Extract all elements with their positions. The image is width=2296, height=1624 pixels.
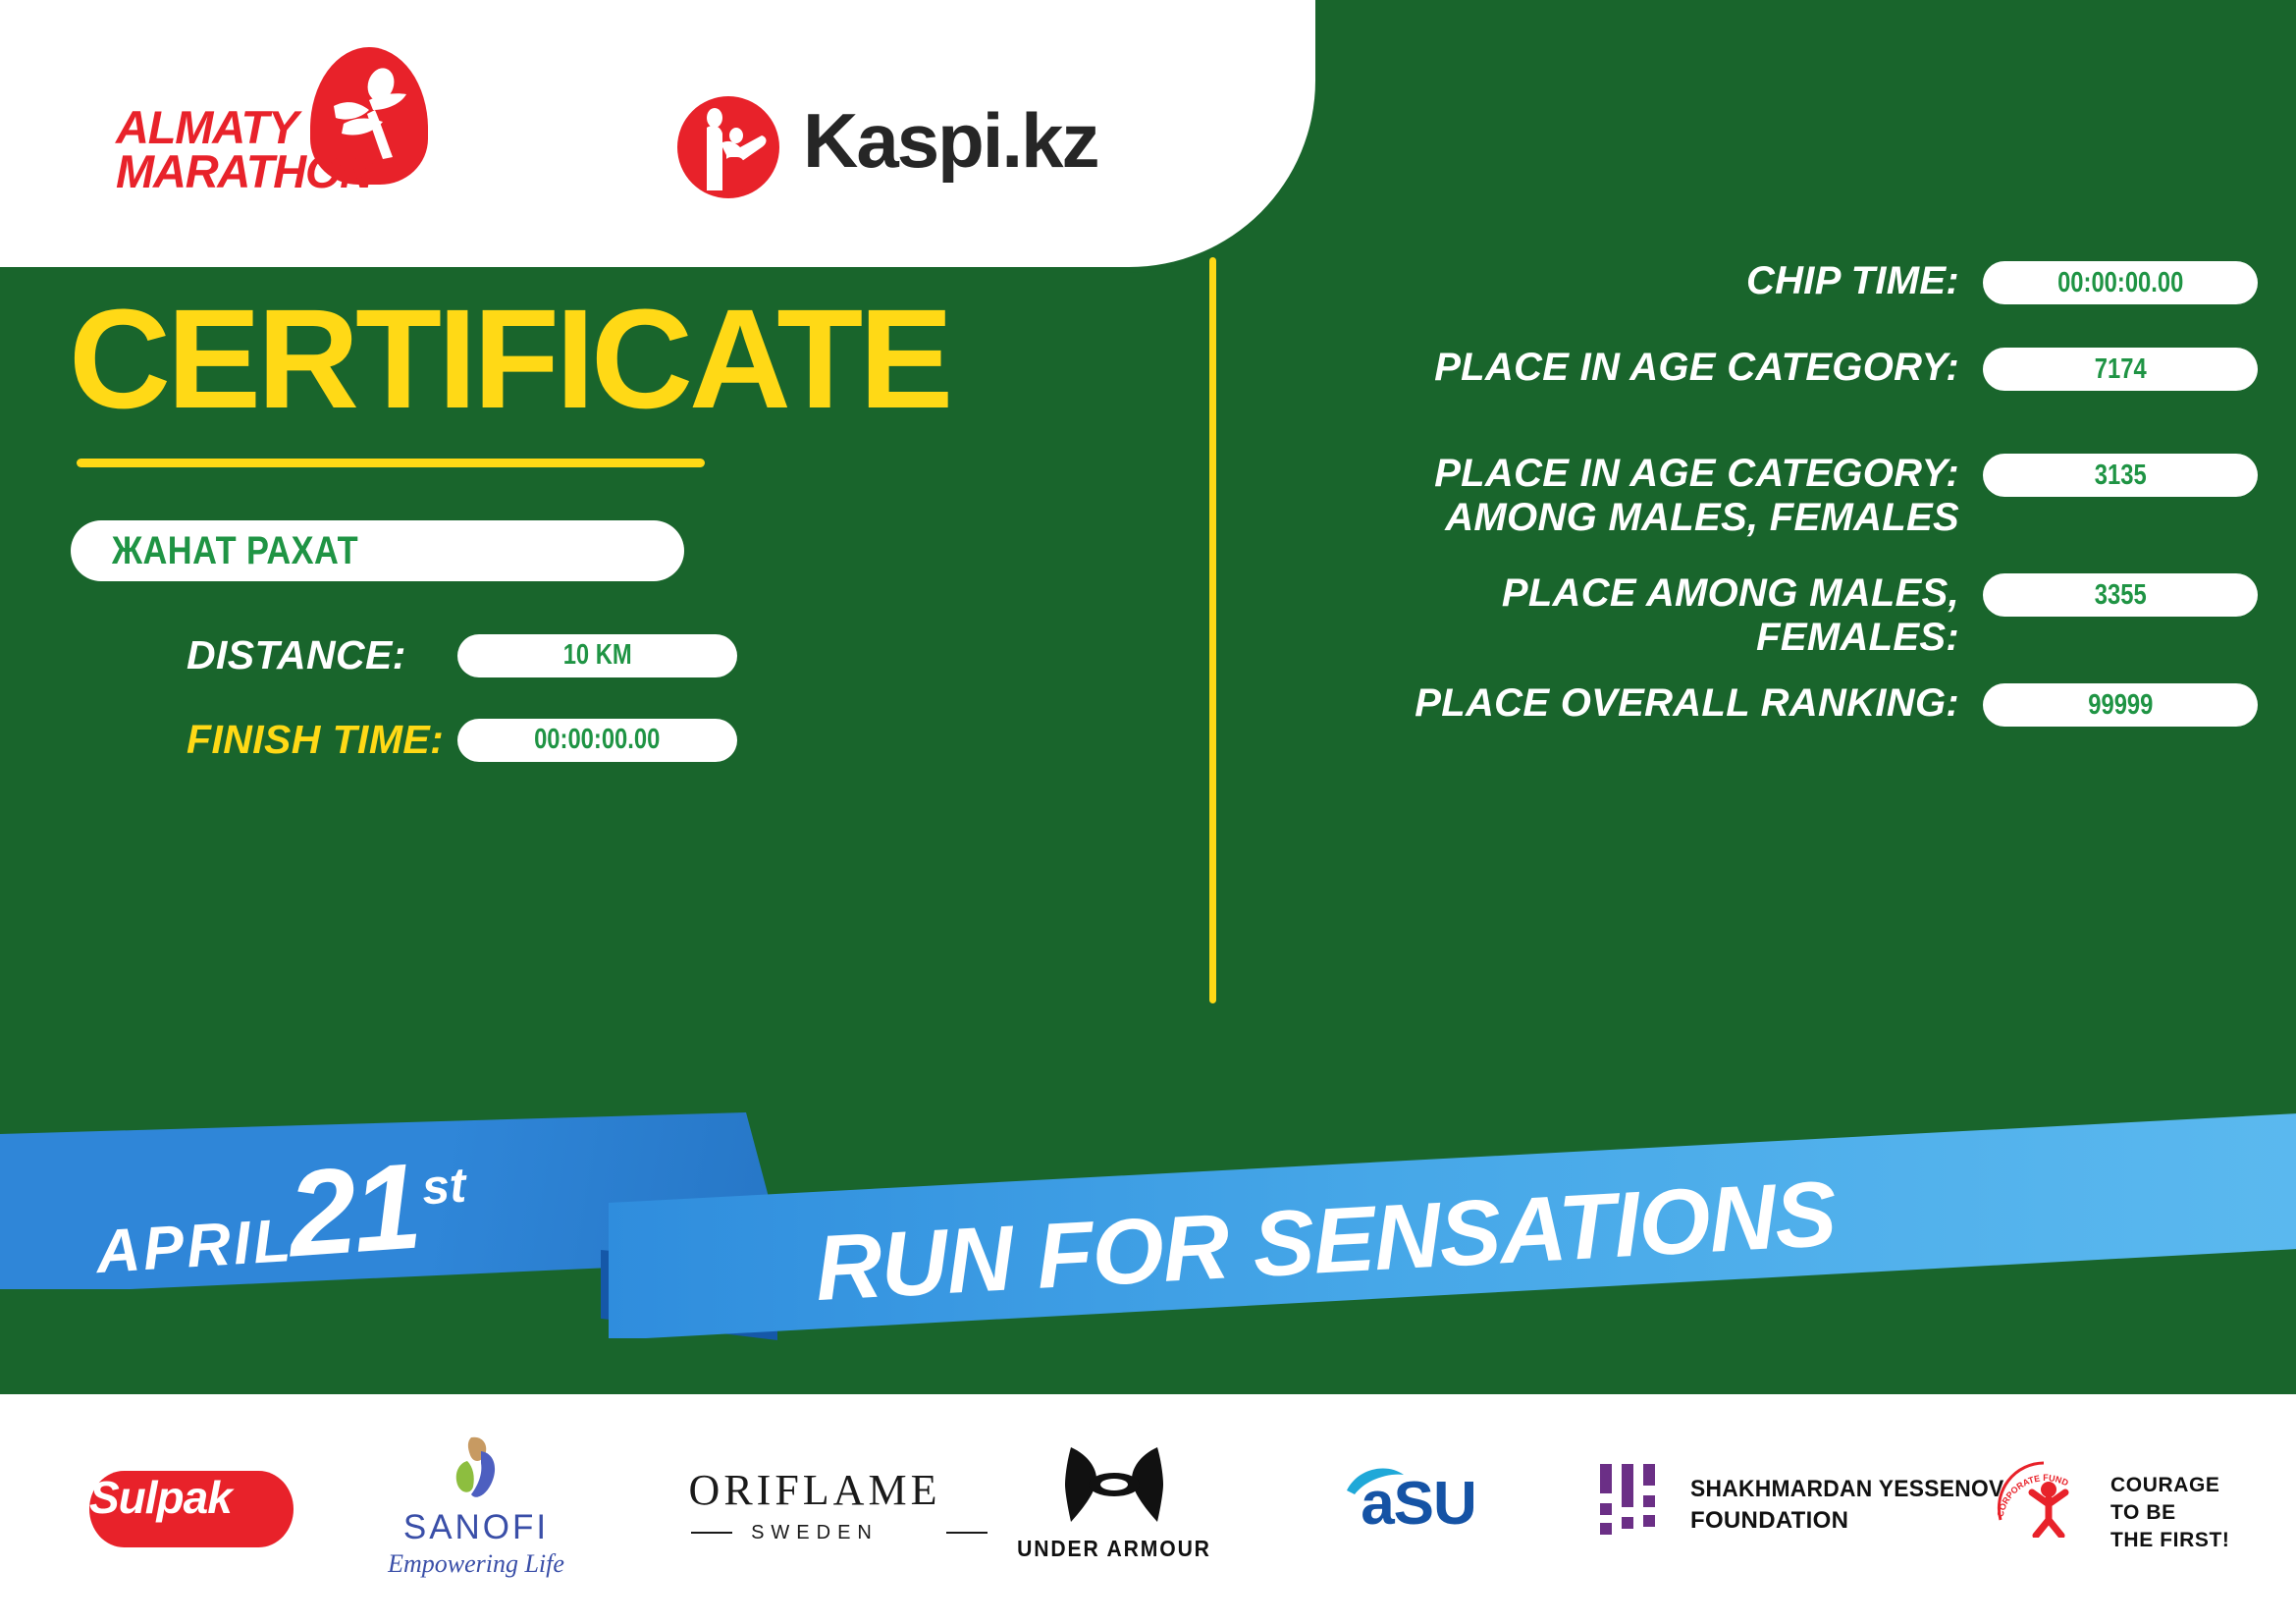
sponsor-asu: aSU	[1315, 1465, 1600, 1553]
under-armour-mark-icon	[1057, 1445, 1171, 1526]
stat-value: 00:00:00.00	[2057, 267, 2183, 299]
stat-row: PLACE OVERALL RANKING:99999	[1266, 681, 2258, 727]
sponsor-courage: CORPORATE FUND COURAGE TO BE THE FIRST!	[1993, 1451, 2287, 1567]
almaty-logo-line2: MARATHON	[116, 148, 372, 194]
stat-label: PLACE IN AGE CATEGORY:	[1266, 346, 1983, 390]
certificate-page: ALMATYMARATHONALMATYMARATHONALMATYMARATH…	[0, 0, 2296, 1624]
sanofi-mark-icon	[438, 1435, 510, 1504]
kaspi-wordmark: Kaspi.kz	[803, 102, 1097, 179]
distance-value-pill: 10 KM	[457, 634, 737, 677]
participant-name-field: ЖАНАТ РАХАТ	[71, 520, 684, 581]
asu-logo: aSU	[1355, 1465, 1561, 1553]
oriflame-wordmark: ORIFLAME	[677, 1465, 952, 1515]
finish-time-value: 00:00:00.00	[535, 724, 661, 756]
kaspi-people-icon	[677, 96, 779, 198]
sulpak-logo: Sulpak	[89, 1471, 294, 1547]
yessenov-line1: SHAKHMARDAN YESSENOV	[1690, 1476, 2003, 1503]
title-underline	[77, 459, 705, 467]
oriflame-rule-right	[946, 1532, 988, 1534]
certificate-title: CERTIFICATE	[69, 289, 949, 430]
stat-value: 7174	[2095, 353, 2147, 386]
under-armour-logo: UNDER ARMOUR	[1045, 1445, 1271, 1573]
stat-value-pill: 99999	[1983, 683, 2258, 727]
sanofi-tagline: Empowering Life	[383, 1549, 569, 1579]
yessenov-line2: FOUNDATION	[1690, 1507, 1848, 1535]
finish-time-row: FINISH TIME: 00:00:00.00	[187, 717, 737, 763]
event-day: 21	[285, 1146, 422, 1276]
courage-line1: COURAGE	[2110, 1475, 2220, 1495]
stat-value: 3355	[2095, 579, 2147, 612]
distance-row: DISTANCE: 10 KM	[187, 632, 737, 678]
finish-time-value-pill: 00:00:00.00	[457, 719, 737, 762]
sponsor-bar: Sulpak SANOFI Empowering Life ORIFLAME S…	[0, 1394, 2296, 1624]
stat-label: PLACE AMONG MALES, FEMALES:	[1266, 571, 1983, 660]
stat-value-pill: 7174	[1983, 348, 2258, 391]
stat-value-pill: 3355	[1983, 573, 2258, 617]
courage-line2: TO BE	[2110, 1502, 2176, 1523]
stat-row: PLACE AMONG MALES, FEMALES:3355	[1266, 571, 2258, 660]
stat-value: 3135	[2095, 460, 2147, 492]
almaty-logo-line1: ALMATY	[116, 104, 297, 150]
sponsor-sulpak: Sulpak	[0, 1471, 383, 1547]
kaspi-circle-icon	[677, 96, 779, 198]
almaty-marathon-logo: ALMATY MARATHON	[116, 47, 440, 185]
kaspi-logo: Kaspi.kz	[677, 96, 1090, 204]
stat-label: PLACE IN AGE CATEGORY: AMONG MALES, FEMA…	[1266, 452, 1983, 540]
yessenov-logo: SHAKHMARDAN YESSENOV FOUNDATION	[1634, 1460, 1958, 1558]
stat-row: PLACE IN AGE CATEGORY: AMONG MALES, FEMA…	[1266, 452, 2258, 540]
courage-line3: THE FIRST!	[2110, 1530, 2230, 1550]
sanofi-wordmark: SANOFI	[383, 1508, 569, 1547]
finish-time-label: FINISH TIME:	[187, 717, 444, 763]
yessenov-bars-icon	[1600, 1464, 1673, 1537]
participant-name-value: ЖАНАТ РАХАТ	[112, 529, 358, 573]
event-day-suffix: st	[420, 1161, 467, 1213]
vertical-divider	[1209, 257, 1216, 1003]
oriflame-logo: ORIFLAME SWEDEN	[702, 1455, 977, 1563]
oriflame-sub: SWEDEN	[677, 1522, 952, 1544]
courage-figure-icon	[2028, 1481, 2069, 1538]
stat-row: CHIP TIME:00:00:00.00	[1266, 259, 2258, 304]
stat-row: PLACE IN AGE CATEGORY:7174	[1266, 346, 2258, 391]
header-band: ALMATY MARATHON Kaspi.kz	[0, 0, 1315, 267]
courage-logo: CORPORATE FUND COURAGE TO BE THE FIRST!	[2012, 1451, 2268, 1567]
stat-label: CHIP TIME:	[1266, 259, 1983, 303]
asu-swoosh-icon	[1343, 1461, 1408, 1500]
event-ribbon: APRIL 21 st RUN FOR SENSATIONS	[0, 1085, 2296, 1380]
sponsor-yessenov: SHAKHMARDAN YESSENOV FOUNDATION	[1600, 1460, 1993, 1558]
sponsor-sanofi: SANOFI Empowering Life	[383, 1435, 677, 1583]
sponsor-oriflame: ORIFLAME SWEDEN	[677, 1455, 1001, 1563]
stat-value: 99999	[2088, 689, 2153, 722]
stat-value-pill: 00:00:00.00	[1983, 261, 2258, 304]
distance-value: 10 KM	[562, 639, 631, 672]
stat-label: PLACE OVERALL RANKING:	[1266, 681, 1983, 726]
under-armour-wordmark: UNDER ARMOUR	[1010, 1536, 1218, 1562]
sponsor-under-armour: UNDER ARMOUR	[1001, 1445, 1315, 1573]
event-month: APRIL	[94, 1211, 294, 1283]
sanofi-logo: SANOFI Empowering Life	[437, 1435, 623, 1583]
stat-value-pill: 3135	[1983, 454, 2258, 497]
distance-label: DISTANCE:	[187, 632, 406, 678]
